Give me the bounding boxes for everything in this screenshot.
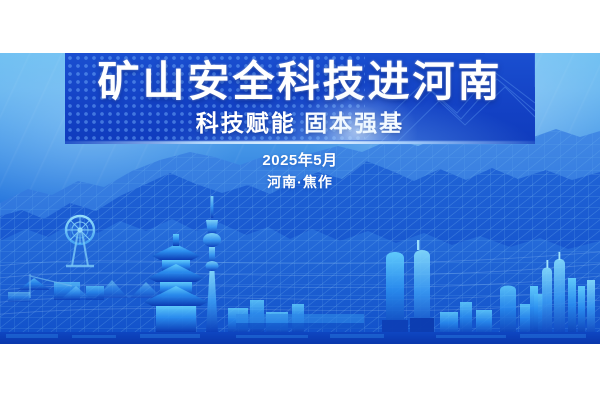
tv-tower-icon — [200, 196, 224, 340]
bridge-slab — [236, 314, 364, 329]
event-date: 2025年5月 — [0, 150, 600, 172]
city-skyline-graphic — [0, 194, 600, 344]
left-low-structures — [18, 274, 104, 300]
ferris-wheel-icon — [66, 216, 94, 266]
plate-underglow-decor — [65, 141, 535, 144]
event-meta-block: 2025年5月 河南·焦作 — [0, 150, 600, 193]
page-title: 矿山安全科技进河南 — [65, 57, 535, 107]
pagoda-icon — [144, 234, 208, 332]
title-plate: 矿山安全科技进河南 科技赋能 固本强基 — [65, 53, 535, 144]
poster-frame: 矿山安全科技进河南 科技赋能 固本强基 2025年5月 河南·焦作 — [0, 0, 600, 400]
poster-artwork: 矿山安全科技进河南 科技赋能 固本强基 2025年5月 河南·焦作 — [0, 53, 600, 344]
ground-band — [0, 332, 600, 344]
page-subtitle: 科技赋能 固本强基 — [65, 108, 535, 138]
mid-right-buildings — [440, 286, 543, 337]
event-location: 河南·焦作 — [0, 172, 600, 193]
twin-towers-icon — [382, 240, 434, 336]
